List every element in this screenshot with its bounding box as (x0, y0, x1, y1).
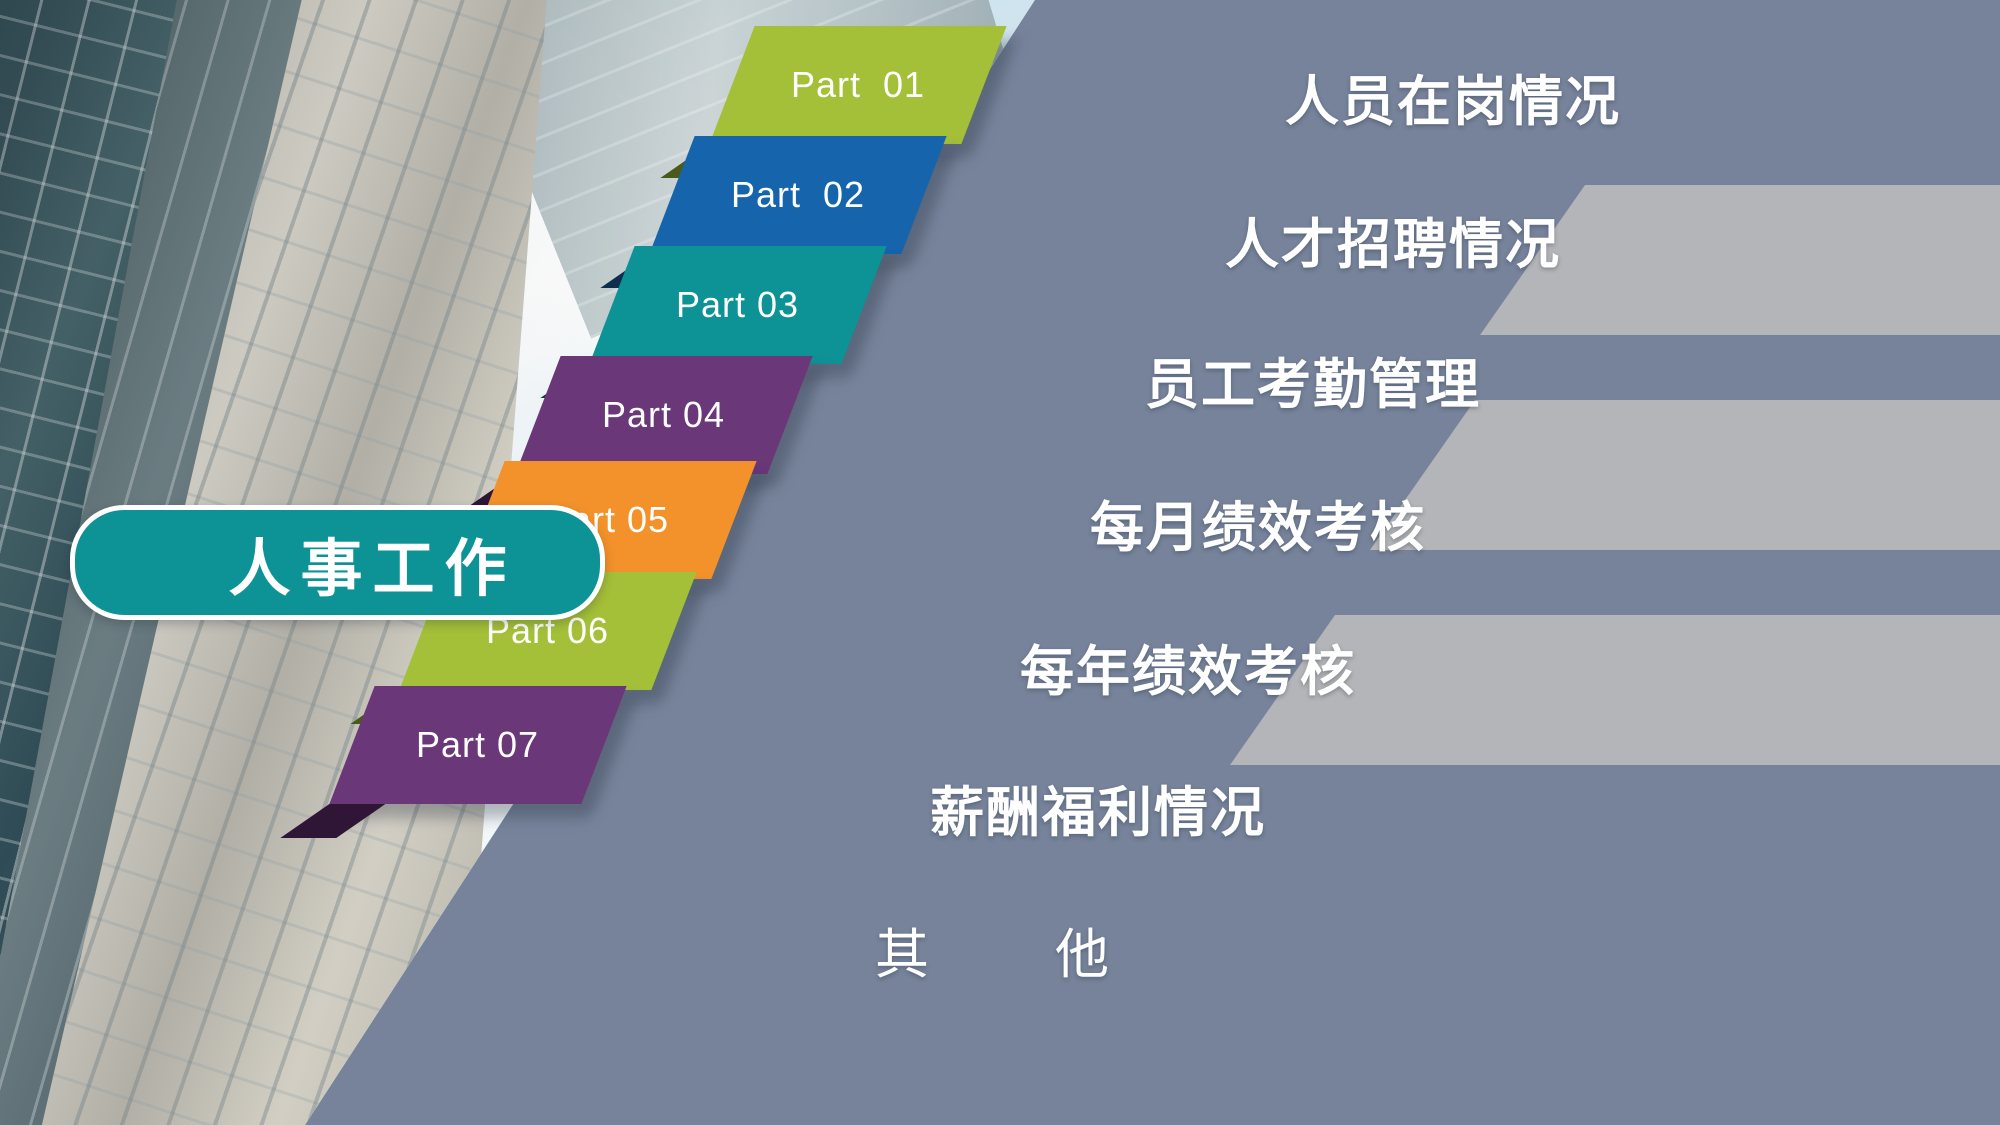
agenda-chip-part-07[interactable]: Part 07 (329, 686, 626, 804)
agenda-caption-part-02: 人才招聘情况 (1225, 200, 1561, 279)
agenda-caption-part-03: 员工考勤管理 (1145, 340, 1481, 419)
agenda-caption-part-07: 其 他 (875, 910, 1115, 989)
agenda-chip-part-01[interactable]: Part 01 (709, 26, 1006, 144)
slide-title-badge: 人事工作 (70, 505, 605, 620)
agenda-caption-part-06: 薪酬福利情况 (930, 768, 1266, 847)
presentation-slide: Part 01 Part 02 Part 03 Part 04 Part 05 … (0, 0, 2000, 1125)
agenda-chip-label-4: Part 04 (602, 394, 725, 436)
agenda-chip-part-04[interactable]: Part 04 (515, 356, 812, 474)
agenda-caption-part-01: 人员在岗情况 (1285, 57, 1621, 136)
agenda-chip-label-7: Part 07 (416, 724, 539, 766)
agenda-chip-label-2: Part 02 (731, 174, 865, 216)
agenda-chip-part-03[interactable]: Part 03 (589, 246, 886, 364)
decorative-parallelogram-2 (1370, 400, 2000, 550)
agenda-chip-label-1: Part 01 (791, 64, 925, 106)
agenda-chip-label-3: Part 03 (676, 284, 799, 326)
agenda-caption-part-04: 每月绩效考核 (1090, 483, 1426, 562)
agenda-caption-part-05: 每年绩效考核 (1020, 627, 1356, 706)
agenda-chip-part-02[interactable]: Part 02 (649, 136, 946, 254)
slide-title-text: 人事工作 (228, 518, 516, 608)
